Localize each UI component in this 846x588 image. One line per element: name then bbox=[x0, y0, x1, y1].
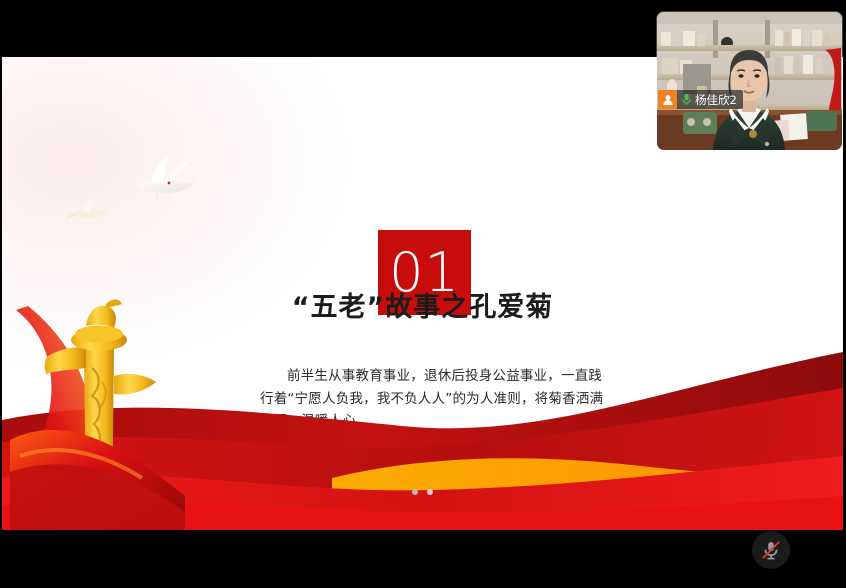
pagination-dot[interactable] bbox=[412, 489, 418, 495]
doves-decoration bbox=[57, 152, 197, 242]
participant-name-badge: 杨佳欣2 bbox=[658, 90, 743, 109]
dove-large-icon bbox=[107, 152, 197, 210]
mic-mute-button[interactable] bbox=[752, 531, 790, 569]
dove-small-icon bbox=[65, 197, 109, 227]
pagination-dot-active[interactable] bbox=[427, 489, 433, 495]
slide-pagination-dots[interactable] bbox=[2, 489, 843, 495]
participant-video-tile[interactable]: 杨佳欣2 bbox=[657, 12, 842, 150]
participant-name-label: 杨佳欣2 bbox=[695, 92, 737, 108]
screen-share-window: 01 “五老”故事之孔爱菊 前半生从事教育事业，退休后投身公益事业，一直践行着“… bbox=[0, 0, 846, 588]
person-icon bbox=[658, 90, 677, 109]
microphone-icon bbox=[679, 90, 694, 109]
participant-video-frame bbox=[657, 12, 842, 150]
microphone-muted-icon bbox=[760, 539, 782, 561]
